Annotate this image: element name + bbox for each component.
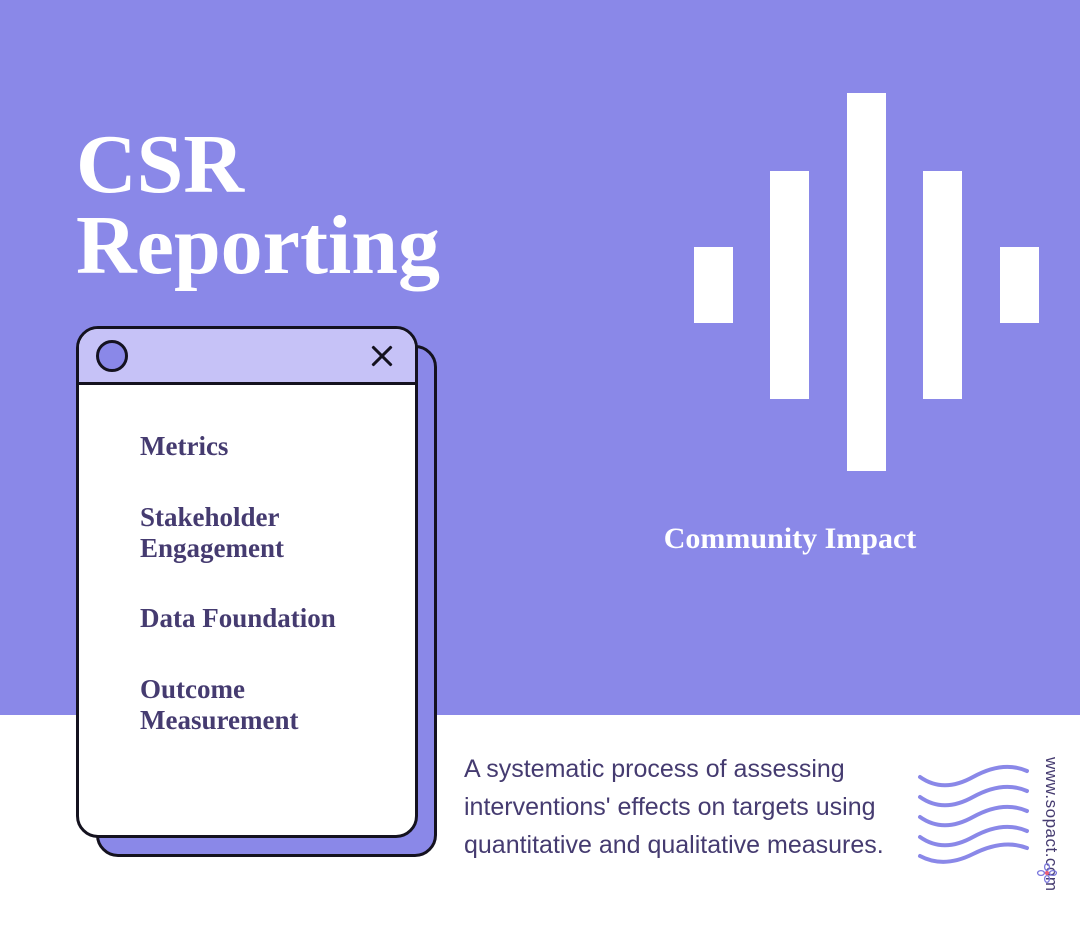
list-item[interactable]: Data Foundation	[140, 603, 385, 634]
sopact-flower-logo-icon	[1036, 862, 1058, 884]
wave-lines-icon	[915, 755, 1035, 865]
title-line-1: CSR	[76, 118, 244, 211]
window-card[interactable]: Metrics Stakeholder Engagement Data Foun…	[76, 326, 418, 838]
chart-bar	[694, 247, 733, 323]
window-content: Metrics Stakeholder Engagement Data Foun…	[79, 385, 415, 835]
list-item[interactable]: Outcome Measurement	[140, 674, 385, 736]
window-titlebar	[79, 329, 415, 385]
poster-canvas: CSR Reporting Metrics Stakeholder Engage…	[0, 0, 1080, 945]
title-line-2: Reporting	[76, 205, 506, 286]
description-text: A systematic process of assessing interv…	[464, 750, 919, 864]
chart-bar	[847, 93, 886, 471]
chart-bar	[923, 171, 962, 399]
chart-bar	[1000, 247, 1039, 323]
chart-bar	[770, 171, 809, 399]
list-item[interactable]: Stakeholder Engagement	[140, 502, 385, 564]
circle-button-icon[interactable]	[96, 340, 128, 372]
bar-chart	[694, 93, 1039, 473]
page-title: CSR Reporting	[76, 124, 506, 287]
close-icon[interactable]	[367, 341, 397, 371]
list-item[interactable]: Metrics	[140, 431, 385, 462]
chart-title: Community Impact	[540, 522, 1040, 556]
